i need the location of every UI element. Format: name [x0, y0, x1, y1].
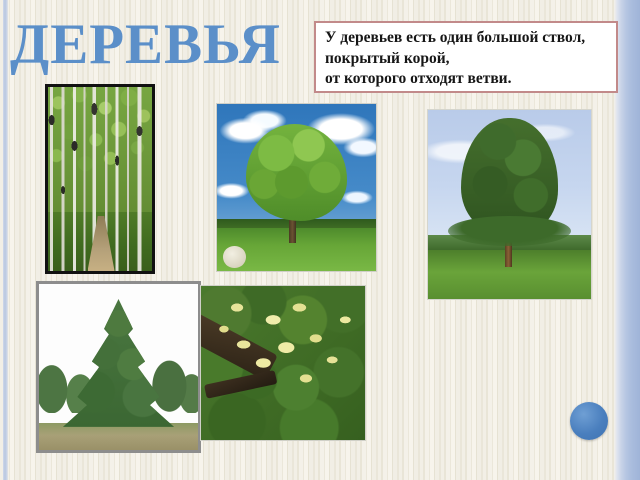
lonetree-scene [217, 104, 376, 271]
pine-lower-branch [448, 216, 572, 246]
caption-textbox: У деревьев есть один большой ствол, покр… [314, 21, 618, 93]
photo-birch-grove [45, 84, 155, 274]
lonetree-sheep [223, 246, 245, 268]
birch-scene [48, 87, 152, 271]
photo-linden-blossom [200, 285, 366, 441]
pine-scene [428, 110, 591, 299]
caption-text: У деревьев есть один большой ствол, покр… [325, 28, 610, 90]
photo-lone-tree-meadow [216, 103, 377, 272]
linden-flowers [201, 286, 365, 440]
presentation-slide: ДЕРЕВЬЯ У деревьев есть один большой ств… [0, 0, 640, 480]
next-slide-button[interactable] [570, 402, 608, 440]
page-title: ДЕРЕВЬЯ [10, 14, 310, 76]
spruce-ground [39, 423, 198, 450]
left-accent-stripe [3, 0, 8, 480]
photo-spruce-tree [36, 281, 201, 453]
photo-pine-tree [427, 109, 592, 300]
linden-scene [201, 286, 365, 440]
spruce-scene [39, 284, 198, 450]
